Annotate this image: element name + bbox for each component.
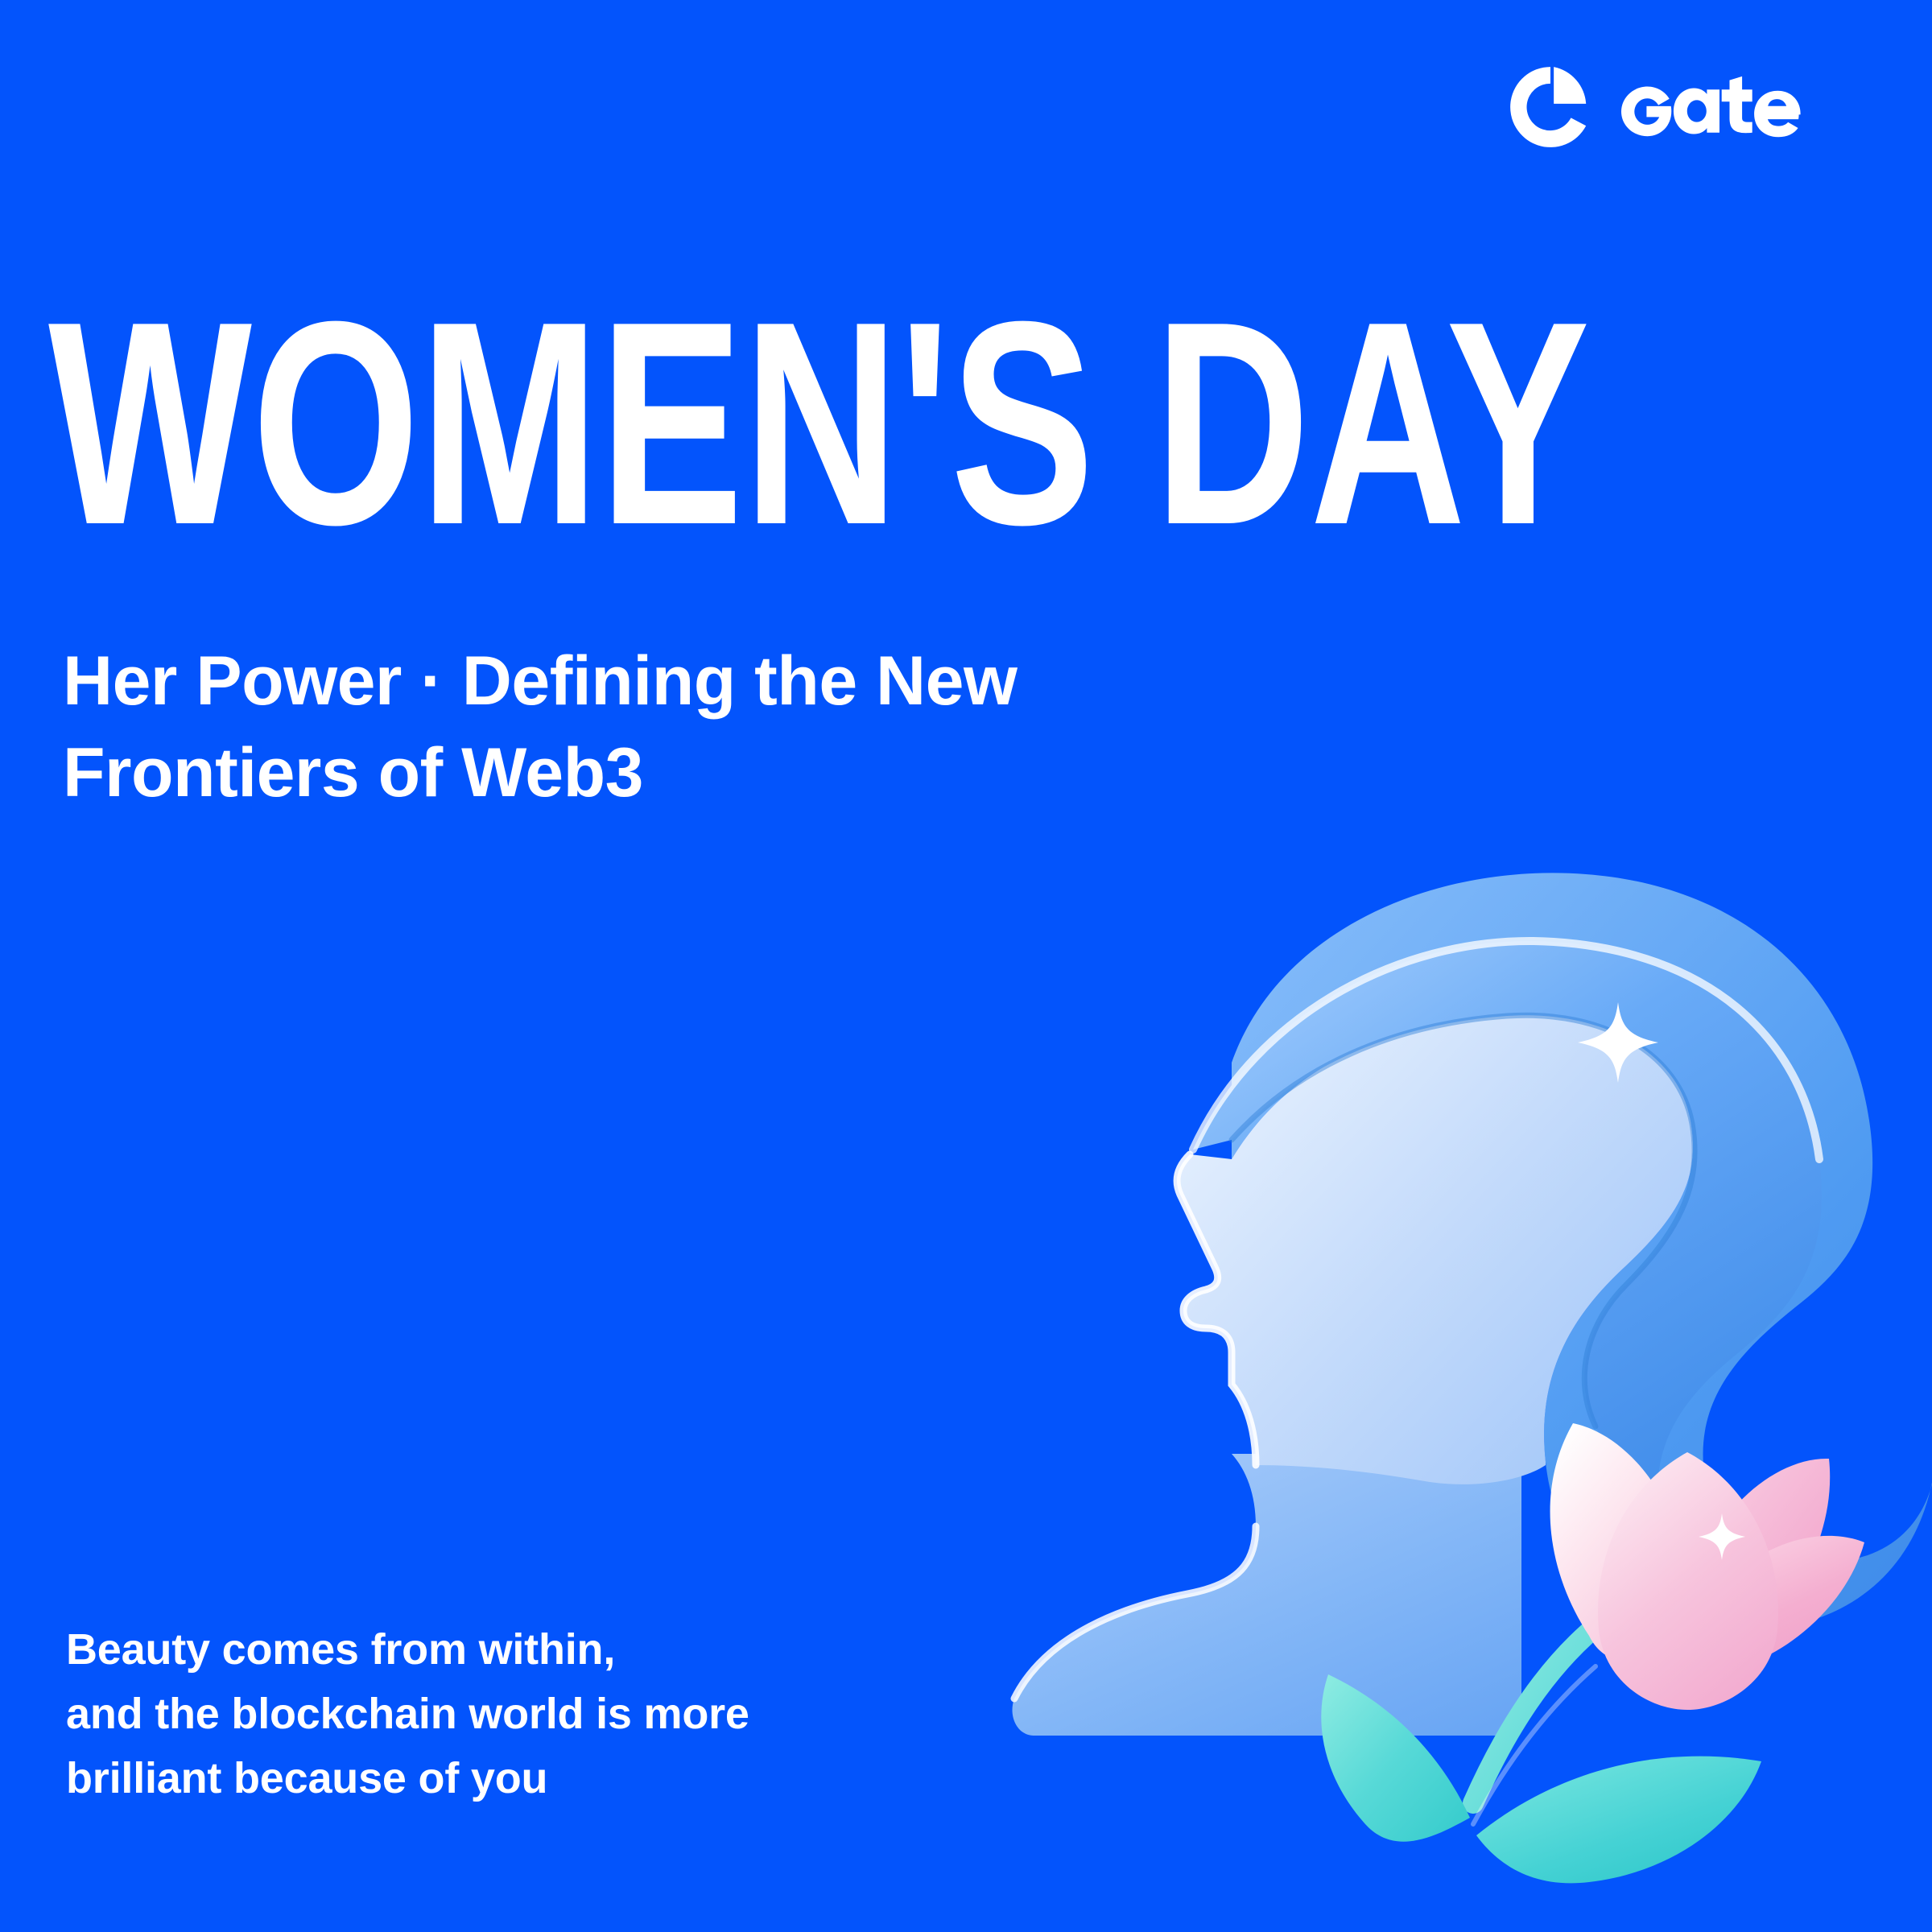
- tulip-stem: [1473, 1621, 1602, 1803]
- tulip-leaf-left: [1321, 1674, 1470, 1842]
- caption-line-1: Beauty comes from within,: [66, 1618, 1032, 1682]
- shoulder-shape: [1012, 1454, 1521, 1736]
- caption-line-2: and the blockchain world is more: [66, 1682, 1032, 1747]
- tulip-petal-left: [1550, 1423, 1686, 1659]
- face-rim-light: [1177, 1154, 1256, 1465]
- hair-shape: [1232, 873, 1932, 1629]
- subtitle: Her Power · Defining the New Frontiers o…: [63, 636, 1270, 819]
- gate-wordmark: [1610, 65, 1851, 149]
- tulip-petal-center: [1598, 1452, 1778, 1710]
- page-title: WOMEN'S DAY: [48, 282, 1602, 563]
- womens-day-poster: WOMEN'S DAY Her Power · Defining the New…: [0, 0, 1932, 1932]
- sparkle-small-icon: [1699, 1513, 1745, 1560]
- woman-profile-illustration: [990, 821, 1932, 1932]
- subtitle-line-1: Her Power · Defining the New: [63, 636, 1270, 728]
- tulip-flower: [1550, 1423, 1864, 1710]
- front-hair-sweep: [1193, 941, 1822, 1502]
- sparkle-large-icon: [1578, 1002, 1658, 1083]
- caption-line-3: brilliant because of you: [66, 1747, 1032, 1811]
- face-profile-shape: [1177, 1013, 1693, 1484]
- leaf-highlight: [1473, 1666, 1596, 1824]
- page-title-text: WOMEN'S DAY: [48, 282, 1590, 563]
- gate-brand-logo[interactable]: [1509, 63, 1851, 151]
- caption: Beauty comes from within, and the blockc…: [66, 1618, 1032, 1811]
- subtitle-line-2: Frontiers of Web3: [63, 728, 1270, 819]
- tulip-leaf-right: [1476, 1757, 1761, 1884]
- gate-circle-mark-icon: [1509, 65, 1592, 149]
